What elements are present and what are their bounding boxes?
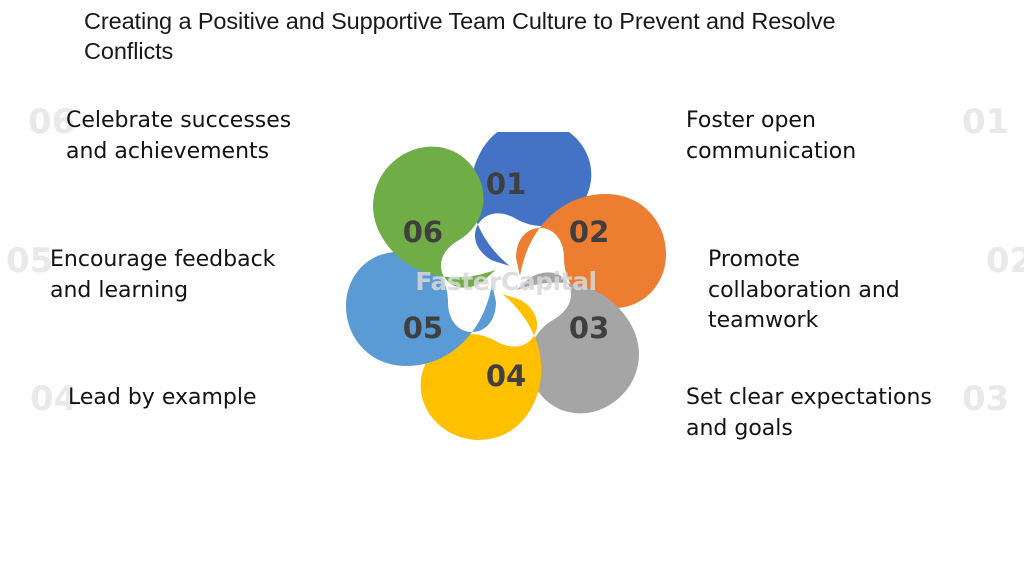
callout-left-06: Celebrate successes and achievements (66, 106, 341, 167)
watermark-text: FasterCapital (415, 267, 596, 296)
slide-canvas: Creating a Positive and Supportive Team … (0, 0, 1024, 576)
callout-right-02: Promote collaboration and teamwork (708, 245, 958, 337)
callout-right-02-line1: Promote (708, 245, 958, 276)
petal-number-05: 05 (403, 311, 443, 345)
callout-right-02-line3: teamwork (708, 306, 958, 337)
ghost-number-02: 02 (986, 243, 1024, 279)
callout-left-06-line1: Celebrate successes (66, 106, 341, 137)
ghost-number-01: 01 (962, 104, 1009, 140)
callout-right-03-line1: Set clear expectations (686, 383, 958, 414)
callout-right-02-line2: collaboration and (708, 276, 958, 307)
callout-right-01-line1: Foster open (686, 106, 948, 137)
petal-number-03: 03 (569, 311, 609, 345)
callout-left-06-line2: and achievements (66, 137, 341, 168)
ghost-number-05: 05 (6, 243, 53, 279)
petal-number-04: 04 (486, 359, 526, 393)
callout-right-01: Foster open communication (686, 106, 948, 167)
callout-right-03: Set clear expectations and goals (686, 383, 958, 444)
page-title: Creating a Positive and Supportive Team … (84, 6, 896, 66)
callout-left-04-line1: Lead by example (68, 383, 343, 414)
petal-wheel-diagram: 010203040506 FasterCapital (336, 132, 676, 440)
petal-number-06: 06 (403, 215, 443, 249)
ghost-number-03: 03 (962, 381, 1009, 417)
callout-right-03-line2: and goals (686, 414, 958, 445)
petal-wheel-svg: 010203040506 FasterCapital (336, 132, 676, 440)
petal-number-02: 02 (569, 215, 609, 249)
petal-number-01: 01 (486, 167, 526, 201)
callout-left-05: Encourage feedback and learning (50, 245, 340, 306)
callout-left-05-line2: and learning (50, 276, 340, 307)
callout-left-04: Lead by example (68, 383, 343, 414)
callout-right-01-line2: communication (686, 137, 948, 168)
callout-left-05-line1: Encourage feedback (50, 245, 340, 276)
